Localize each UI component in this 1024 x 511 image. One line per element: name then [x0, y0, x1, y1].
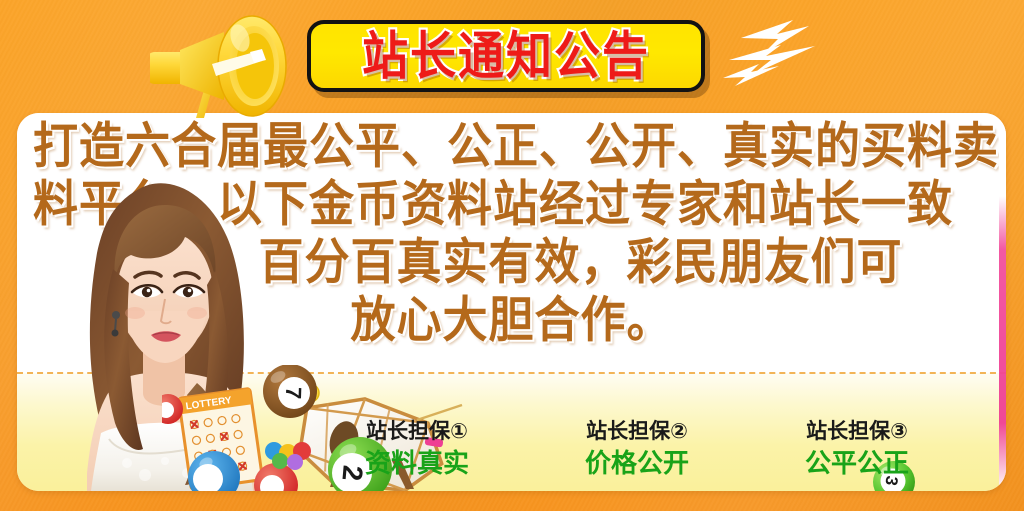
guarantee-item-3: 站长担保③ 公平公正: [767, 417, 947, 491]
guarantee-list: 站长担保① 资料真实 站长担保② 价格公开 站长担保③ 公平公正: [327, 417, 947, 491]
lightning-bolt-icon: [723, 12, 833, 88]
announcement-banner: 站长通知公告 打造六合届最公平、公正、公开、真实的买料卖 料平台，以下金币资料站…: [0, 0, 1024, 511]
page-title: 站长通知公告: [362, 30, 650, 82]
guarantee-title-3: 站长担保③: [767, 417, 947, 445]
guarantee-item-2: 站长担保② 价格公开: [547, 417, 727, 491]
svg-text:7: 7: [281, 386, 306, 399]
guarantee-title-2: 站长担保②: [547, 417, 727, 445]
guarantee-sub-2: 价格公开: [547, 447, 727, 481]
guarantee-title-1: 站长担保①: [327, 417, 507, 445]
card-pink-accent-edge: [999, 113, 1006, 491]
announcement-title-banner: 站长通知公告: [307, 20, 705, 92]
megaphone-icon: [150, 4, 326, 122]
announcement-card: 打造六合届最公平、公正、公开、真实的买料卖 料平台，以下金币资料站经过专家和站长…: [17, 113, 1006, 491]
guarantee-item-1: 站长担保① 资料真实: [327, 417, 507, 491]
guarantee-sub-1: 资料真实: [327, 447, 507, 481]
guarantee-sub-3: 公平公正: [767, 447, 947, 481]
